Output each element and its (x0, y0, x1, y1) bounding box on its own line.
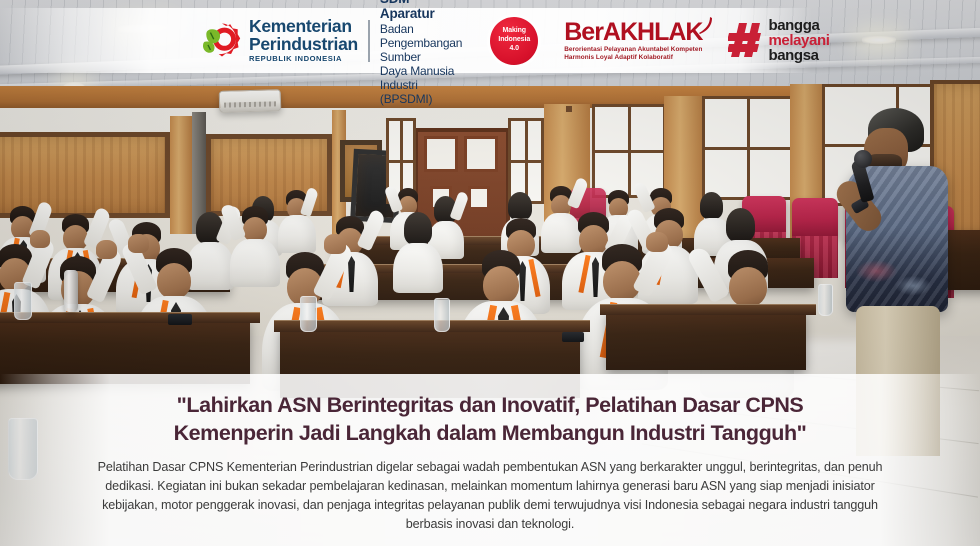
participant-shirt (186, 242, 234, 290)
drinking-glass (300, 296, 317, 332)
door-glass-pane (424, 136, 458, 172)
berakhlak-sub1: Berorientasi Pelayanan Akuntabel Kompete… (564, 46, 702, 53)
hand (324, 234, 346, 254)
news-poster: Kementerian Perindustrian REPUBLIK INDON… (0, 0, 980, 546)
head (483, 266, 519, 304)
bangga-word1: bangga (768, 18, 829, 33)
gear-leaf-logo-icon (202, 21, 242, 59)
hijab (700, 192, 723, 219)
bangga-word3: bangsa (768, 48, 829, 63)
wall-pillar (170, 116, 192, 234)
unit-line1: Pusbindiklat SDM Aparatur (380, 0, 462, 22)
head (729, 267, 767, 307)
ceiling-light-icon (862, 36, 896, 44)
desk-top (600, 304, 816, 315)
body-paragraph: Pelatihan Dasar CPNS Kementerian Perindu… (92, 458, 888, 535)
berakhlak-title: BerAKHLAK (564, 20, 702, 45)
unit-line3: Daya Manusia Industri (BPSDMI) (380, 64, 462, 106)
hand (646, 232, 668, 252)
door-glass-pane (468, 186, 490, 210)
hand (30, 230, 50, 248)
red-chair (792, 198, 838, 238)
head (579, 225, 608, 255)
participant-desk (606, 310, 806, 370)
participant-shirt (541, 213, 581, 253)
hijab (726, 208, 755, 242)
drinking-glass (434, 298, 450, 332)
headline-line2: Kemenperin Jadi Langkah dalam Membangun … (92, 420, 888, 448)
hand (128, 234, 149, 253)
microphone-head (854, 150, 872, 168)
desk-top (274, 320, 590, 332)
berakhlak-sub2: Harmonis Loyal Adaptif Kolaboratif (564, 54, 702, 61)
headline: "Lahirkan ASN Berintegritas dan Inovatif… (92, 392, 888, 447)
wood-wall-panel (0, 132, 170, 218)
bangga-words: bangga melayani bangsa (768, 18, 829, 64)
unit-line2: Badan Pengembangan Sumber (380, 22, 462, 64)
drinking-glass (818, 284, 833, 316)
logo-banner: Kementerian Perindustrian REPUBLIK INDON… (0, 8, 812, 73)
making-indonesia-badge: Making Indonesia 4.0 (490, 17, 538, 65)
water-bottle (64, 270, 78, 312)
smartphone (168, 314, 192, 325)
making-line2: Indonesia (498, 36, 530, 45)
bangga-word2: melayani (768, 33, 829, 48)
headline-line1: "Lahirkan ASN Berintegritas dan Inovatif… (177, 393, 804, 417)
ministry-line2: Perindustrian (249, 36, 358, 54)
air-conditioner (219, 89, 282, 113)
swoosh-icon (697, 16, 713, 34)
hijab (508, 192, 532, 220)
smartphone (562, 332, 584, 342)
window-grid (592, 104, 666, 198)
head (157, 263, 191, 299)
bangga-melayani-bangsa-logo: bangga melayani bangsa (728, 18, 829, 64)
hijab (404, 212, 432, 245)
hashtag-icon (728, 22, 762, 58)
berakhlak-subtitle: Berorientasi Pelayanan Akuntabel Kompete… (564, 46, 702, 61)
banner-divider (368, 20, 370, 62)
desk-top (0, 312, 260, 323)
participant-shirt (393, 243, 443, 293)
making-line1: Making (502, 27, 526, 36)
door-glass-pane (464, 136, 498, 172)
ministry-line3: REPUBLIK INDONESIA (249, 55, 358, 63)
drinking-glass (14, 282, 32, 320)
ministry-name: Kementerian Perindustrian REPUBLIK INDON… (249, 18, 358, 62)
hand (96, 240, 117, 259)
participant-shirt (278, 215, 316, 253)
making-line3: 4.0 (510, 45, 519, 54)
participant-shirt (230, 239, 280, 287)
window-grid (508, 118, 544, 204)
window-grid (702, 96, 794, 200)
window-grid (566, 106, 572, 112)
berakhlak-logo: BerAKHLAK Berorientasi Pelayanan Akuntab… (564, 20, 702, 61)
unit-name: Pusbindiklat SDM Aparatur Badan Pengemba… (380, 0, 462, 106)
caption-overlay: "Lahirkan ASN Berintegritas dan Inovatif… (0, 374, 980, 546)
ministry-logo-block: Kementerian Perindustrian REPUBLIK INDON… (202, 18, 358, 62)
